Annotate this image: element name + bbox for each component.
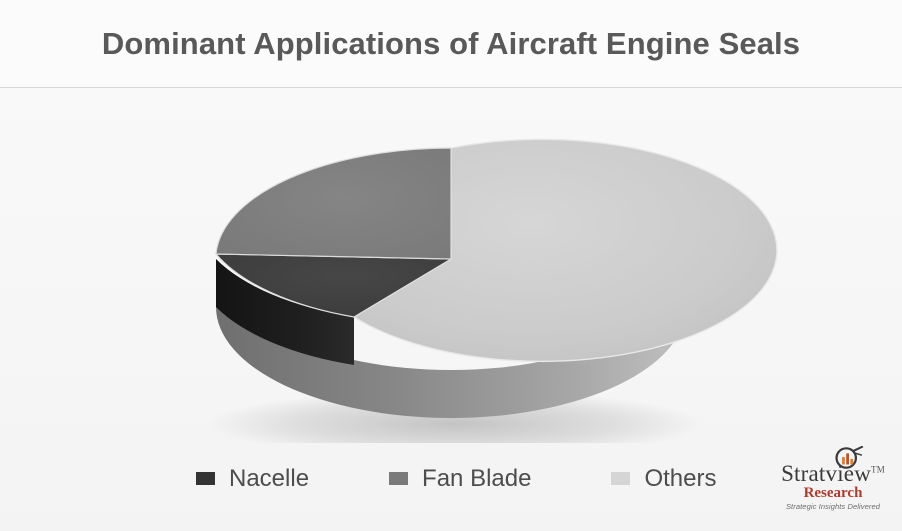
chart-legend: Nacelle Fan Blade Others — [0, 456, 902, 501]
stratview-research-logo[interactable]: StratviewTM Research Strategic Insights … — [772, 448, 894, 514]
legend-item-nacelle[interactable]: Nacelle — [196, 465, 309, 493]
logo-tagline: Strategic Insights Delivered — [772, 503, 894, 511]
legend-item-fan-blade[interactable]: Fan Blade — [389, 465, 531, 493]
pie-chart-svg — [0, 88, 902, 443]
legend-item-others[interactable]: Others — [611, 465, 716, 493]
header-bar: Dominant Applications of Aircraft Engine… — [0, 0, 902, 88]
logo-name-text: Stratview — [781, 461, 871, 486]
legend-label-fan-blade: Fan Blade — [422, 465, 531, 493]
page-title: Dominant Applications of Aircraft Engine… — [102, 26, 800, 62]
legend-swatch-fan-blade — [389, 472, 408, 485]
pie-slice-fan-blade[interactable] — [216, 148, 451, 259]
logo-trademark: TM — [871, 464, 885, 474]
legend-label-nacelle: Nacelle — [229, 465, 309, 493]
logo-name: StratviewTM — [772, 462, 894, 485]
pie-chart — [0, 88, 902, 443]
chart-area: Nacelle Fan Blade Others StratviewTM Res… — [0, 88, 902, 531]
legend-swatch-others — [611, 472, 630, 485]
legend-swatch-nacelle — [196, 472, 215, 485]
logo-subtitle: Research — [772, 486, 894, 501]
legend-label-others: Others — [644, 465, 716, 493]
